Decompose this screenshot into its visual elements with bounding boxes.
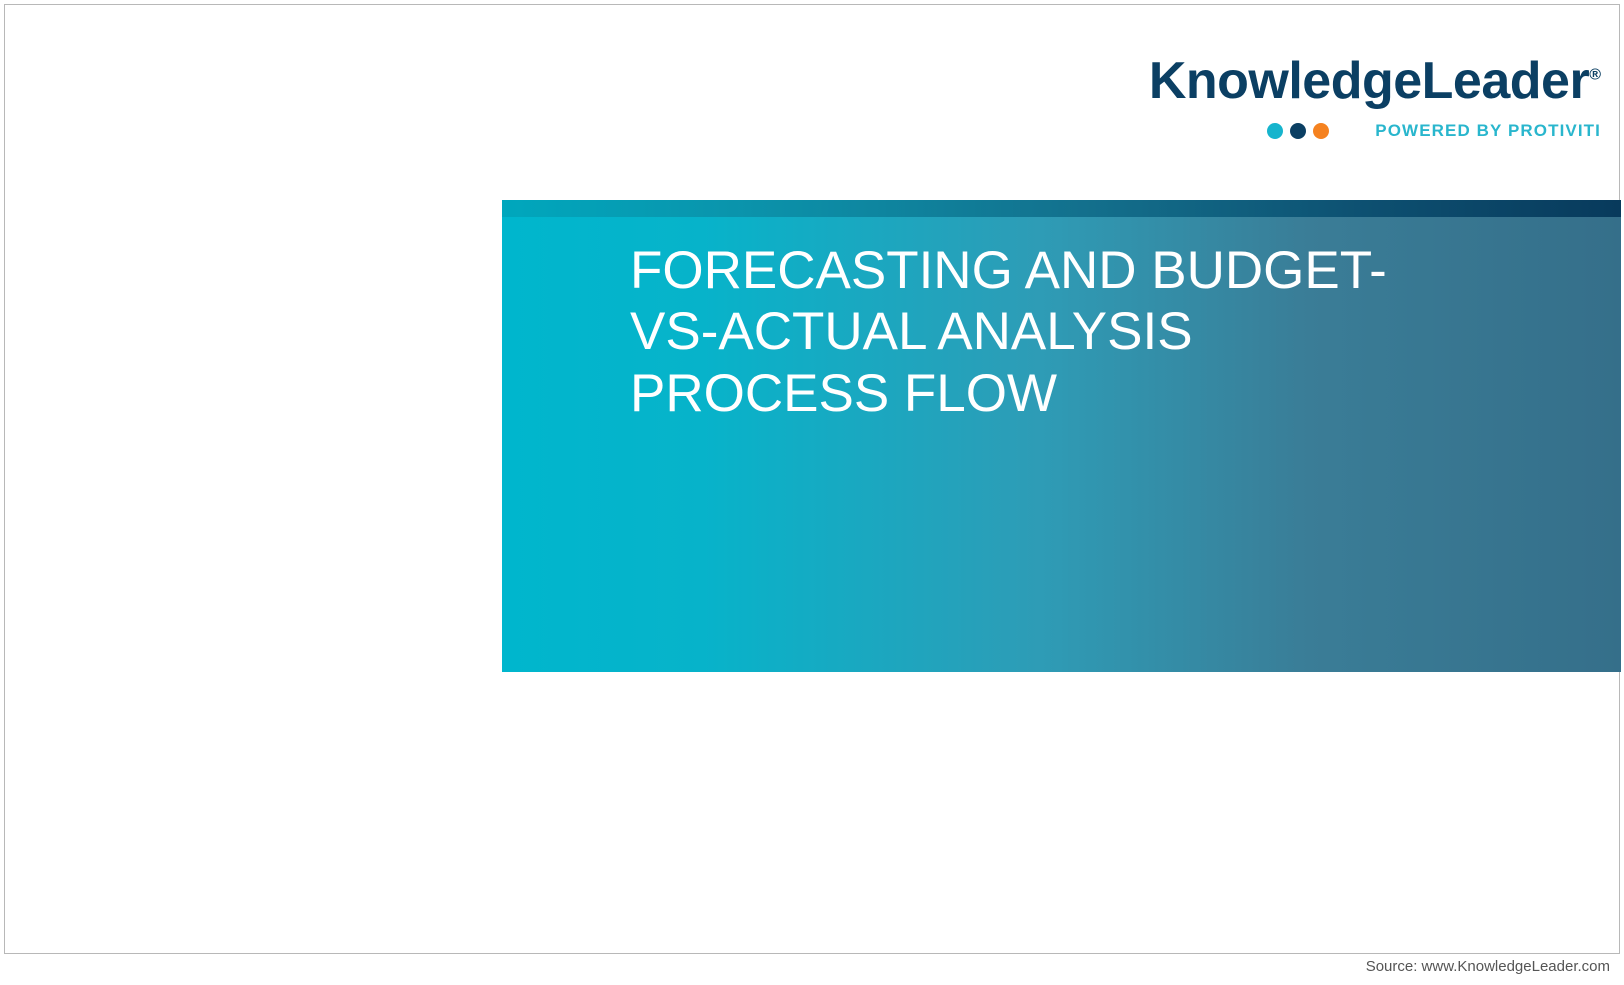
- brand-logo: KnowledgeLeader® POWERED BY PROTIVITI: [1041, 55, 1601, 141]
- page-title-line-2: VS-ACTUAL ANALYSIS: [630, 301, 1560, 362]
- brand-tagline-row: POWERED BY PROTIVITI: [1041, 121, 1601, 141]
- page-title-line-3: PROCESS FLOW: [630, 363, 1560, 424]
- title-banner-top-strip: [502, 200, 1621, 217]
- slide-page: { "brand": { "wordmark": "KnowledgeLeade…: [0, 0, 1624, 985]
- footer-source-text: Source: www.KnowledgeLeader.com: [1366, 958, 1610, 975]
- title-banner: FORECASTING AND BUDGET- VS-ACTUAL ANALYS…: [502, 200, 1621, 672]
- brand-wordmark: KnowledgeLeader®: [1041, 55, 1601, 107]
- registered-trademark-icon: ®: [1589, 67, 1601, 84]
- brand-wordmark-text: KnowledgeLeader: [1149, 52, 1589, 110]
- dot-orange-icon: [1313, 123, 1329, 139]
- page-title-line-1: FORECASTING AND BUDGET-: [630, 240, 1560, 301]
- brand-tagline: POWERED BY PROTIVITI: [1375, 121, 1601, 141]
- page-title: FORECASTING AND BUDGET- VS-ACTUAL ANALYS…: [630, 240, 1560, 424]
- dot-teal-icon: [1267, 123, 1283, 139]
- dot-navy-icon: [1290, 123, 1306, 139]
- brand-dots: [1267, 123, 1329, 139]
- slide-frame: KnowledgeLeader® POWERED BY PROTIVITI FO…: [4, 4, 1620, 954]
